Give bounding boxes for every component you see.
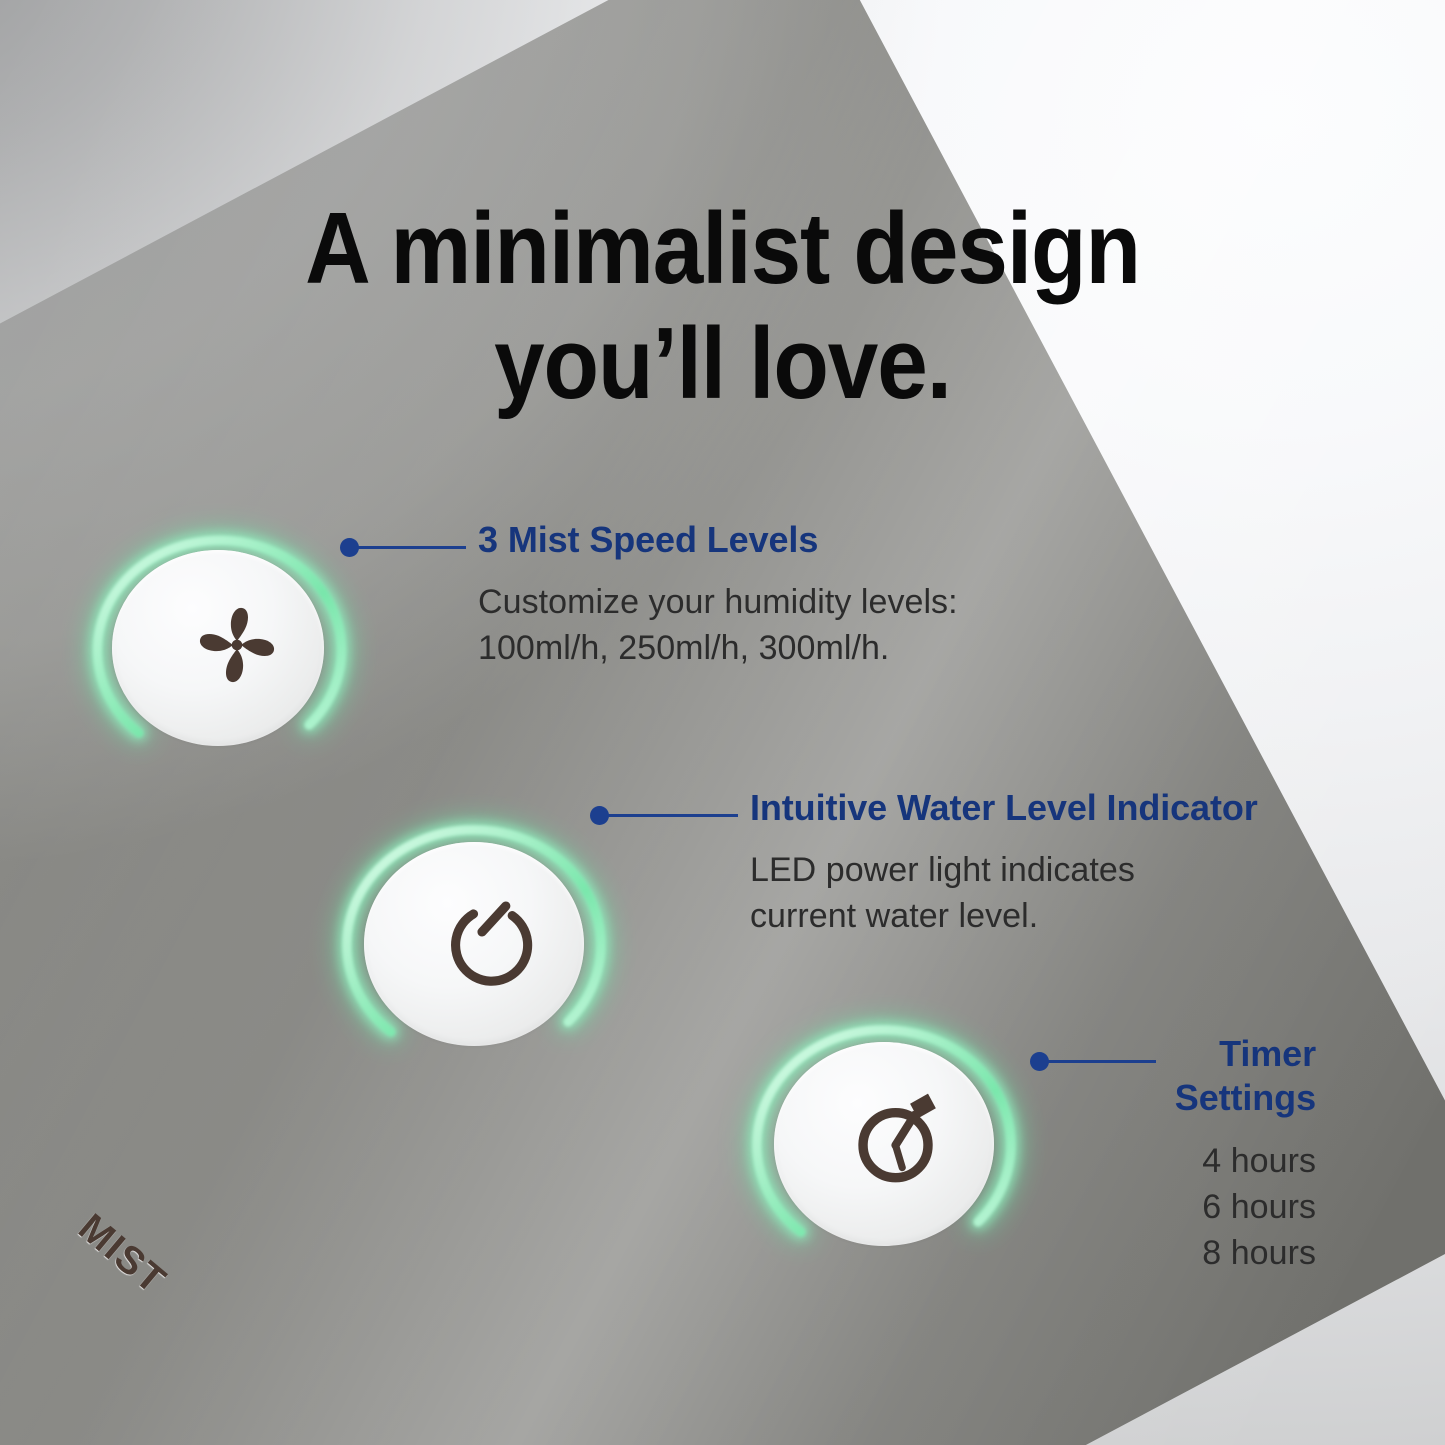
- callout-line-icon: [358, 546, 466, 549]
- mist-button[interactable]: MIST: [78, 522, 368, 782]
- callout-line-icon: [608, 814, 738, 817]
- power-icon: [438, 888, 544, 994]
- fan-icon: [186, 594, 288, 696]
- callout-body-water: LED power light indicates current water …: [750, 847, 1310, 939]
- page-title-line-1: A minimalist design: [305, 193, 1140, 305]
- callout-body-timer: 4 hours 6 hours 8 hours: [1030, 1138, 1316, 1277]
- page-title-line-2: you’ll love.: [72, 307, 1373, 422]
- callout-body-mist: Customize your humidity levels: 100ml/h,…: [478, 579, 998, 671]
- callout-title-timer: Timer Settings: [1030, 1032, 1316, 1121]
- callout-dot-icon: [590, 806, 609, 825]
- callout-dot-icon: [340, 538, 359, 557]
- stopwatch-icon: [844, 1078, 956, 1190]
- callout-marker-mist: [340, 538, 466, 557]
- power-button[interactable]: POWER: [328, 812, 628, 1082]
- page-title: A minimalist designyou’ll love.: [72, 192, 1373, 422]
- callout-marker-water: [590, 806, 738, 825]
- timer-button[interactable]: TIMER: [738, 1012, 1038, 1282]
- callout-title-water: Intuitive Water Level Indicator: [750, 786, 1330, 830]
- callout-title-mist: 3 Mist Speed Levels: [478, 518, 908, 562]
- infographic-canvas: A minimalist designyou’ll love.: [0, 0, 1445, 1445]
